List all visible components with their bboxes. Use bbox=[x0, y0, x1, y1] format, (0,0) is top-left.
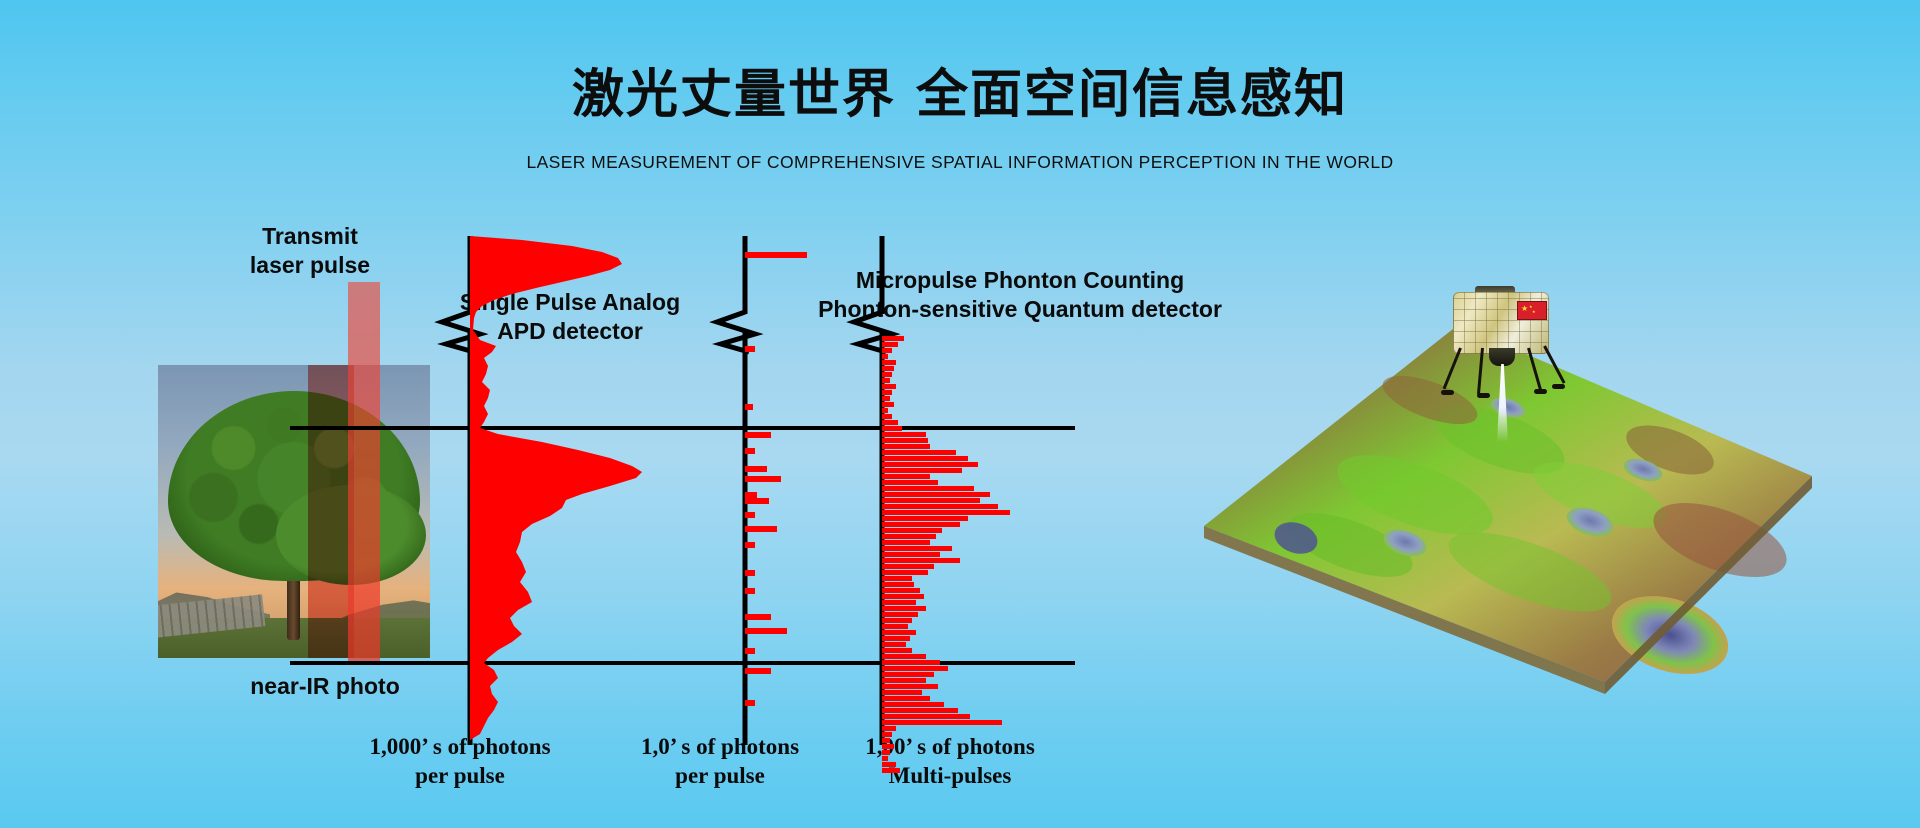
histogram-bar-64 bbox=[882, 720, 1002, 725]
histogram-bar-9 bbox=[882, 390, 892, 395]
histogram-bar-18 bbox=[882, 444, 930, 449]
histogram-bar-43 bbox=[882, 594, 924, 599]
histogram-bar-6 bbox=[882, 372, 892, 377]
histogram-bar-49 bbox=[882, 630, 916, 635]
lander-footpad-1 bbox=[1441, 390, 1454, 395]
photon-tick-8 bbox=[745, 498, 769, 504]
histogram-bar-45 bbox=[882, 606, 926, 611]
histogram-bar-62 bbox=[882, 708, 958, 713]
histogram-bar-12 bbox=[882, 408, 888, 413]
histogram-bar-16 bbox=[882, 432, 926, 437]
histogram-bar-4 bbox=[882, 360, 896, 365]
histogram-bar-28 bbox=[882, 504, 998, 509]
histogram-bar-3 bbox=[882, 354, 888, 359]
histogram-bar-33 bbox=[882, 534, 936, 539]
histogram-bar-7 bbox=[882, 378, 890, 383]
histogram-bar-50 bbox=[882, 636, 910, 641]
photon-tick-7 bbox=[745, 492, 757, 498]
photon-tick-12 bbox=[745, 570, 755, 576]
lander-footpad-4 bbox=[1552, 384, 1565, 389]
flag-star-main: ★ bbox=[1521, 305, 1528, 313]
lunar-lander-icon: ★ ★ ★ bbox=[1435, 286, 1565, 396]
waveform-panel-micropulse-photon-counting bbox=[854, 236, 1010, 773]
histogram-bar-21 bbox=[882, 462, 978, 467]
lander-leg-4 bbox=[1543, 345, 1565, 383]
histogram-bar-58 bbox=[882, 684, 938, 689]
histogram-bar-63 bbox=[882, 714, 970, 719]
histogram-bar-44 bbox=[882, 600, 916, 605]
photon-tick-13 bbox=[745, 588, 755, 594]
histogram-bar-32 bbox=[882, 528, 942, 533]
histogram-bar-23 bbox=[882, 474, 930, 479]
histogram-bar-47 bbox=[882, 618, 912, 623]
histogram-bar-22 bbox=[882, 468, 962, 473]
histogram-bar-1 bbox=[882, 342, 898, 347]
photon-tick-18 bbox=[745, 700, 755, 706]
histogram-bar-67 bbox=[882, 738, 890, 743]
histogram-bar-55 bbox=[882, 666, 948, 671]
histogram-bar-29 bbox=[882, 510, 1010, 515]
histogram-bar-40 bbox=[882, 576, 912, 581]
china-flag-icon: ★ ★ ★ bbox=[1517, 301, 1547, 320]
photon-tick-9 bbox=[745, 512, 755, 518]
lander-engine-nozzle bbox=[1489, 348, 1515, 366]
photon-tick-5 bbox=[745, 466, 767, 472]
histogram-bar-53 bbox=[882, 654, 926, 659]
histogram-bar-37 bbox=[882, 558, 960, 563]
photon-tick-10 bbox=[745, 526, 777, 532]
histogram-bar-38 bbox=[882, 564, 934, 569]
histogram-bar-5 bbox=[882, 366, 894, 371]
photon-tick-0 bbox=[745, 252, 807, 258]
histogram-bar-41 bbox=[882, 582, 914, 587]
waveform-panel-single-pulse-analog-apd bbox=[442, 236, 642, 745]
photon-tick-14 bbox=[745, 614, 771, 620]
lander-leg-3 bbox=[1527, 348, 1542, 391]
photon-tick-4 bbox=[745, 448, 755, 454]
histogram-bar-8 bbox=[882, 384, 896, 389]
histogram-bar-54 bbox=[882, 660, 940, 665]
histogram-bar-56 bbox=[882, 672, 934, 677]
histogram-bar-20 bbox=[882, 456, 968, 461]
waveform-panel-sparse-photon-counting bbox=[717, 236, 807, 745]
histogram-bar-35 bbox=[882, 546, 952, 551]
histogram-bar-10 bbox=[882, 396, 890, 401]
histogram-bar-46 bbox=[882, 612, 918, 617]
histogram-bar-42 bbox=[882, 588, 920, 593]
lander-leg-1 bbox=[1443, 347, 1462, 389]
histogram-bar-61 bbox=[882, 702, 944, 707]
lander-leg-2 bbox=[1477, 348, 1484, 394]
histogram-bar-36 bbox=[882, 552, 940, 557]
histogram-bar-65 bbox=[882, 726, 896, 731]
histogram-bar-24 bbox=[882, 480, 938, 485]
histogram-bar-0 bbox=[882, 336, 904, 341]
histogram-bar-19 bbox=[882, 450, 956, 455]
photon-tick-2 bbox=[745, 404, 753, 410]
photon-tick-17 bbox=[745, 668, 771, 674]
histogram-bar-14 bbox=[882, 420, 898, 425]
histogram-bar-71 bbox=[882, 762, 896, 767]
histogram-bar-34 bbox=[882, 540, 930, 545]
histogram-bar-60 bbox=[882, 696, 930, 701]
histogram-bar-39 bbox=[882, 570, 928, 575]
lander-body: ★ ★ ★ bbox=[1453, 292, 1549, 354]
histogram-bar-15 bbox=[882, 426, 902, 431]
histogram-bar-13 bbox=[882, 414, 892, 419]
histogram-bar-69 bbox=[882, 750, 890, 755]
photon-tick-6 bbox=[745, 476, 781, 482]
histogram-bar-70 bbox=[882, 756, 888, 761]
histogram-bar-27 bbox=[882, 498, 980, 503]
flag-star-3: ★ bbox=[1532, 308, 1536, 316]
histogram-bar-72 bbox=[882, 768, 900, 773]
histogram-bar-30 bbox=[882, 516, 968, 521]
histogram-bar-68 bbox=[882, 744, 894, 749]
histogram-bar-48 bbox=[882, 624, 908, 629]
histogram-bar-59 bbox=[882, 690, 922, 695]
lander-footpad-3 bbox=[1534, 389, 1547, 394]
histogram-bar-17 bbox=[882, 438, 928, 443]
lander-footpad-2 bbox=[1477, 393, 1490, 398]
histogram-bar-57 bbox=[882, 678, 926, 683]
photon-tick-11 bbox=[745, 542, 755, 548]
photon-tick-15 bbox=[745, 628, 787, 634]
histogram-bar-11 bbox=[882, 402, 894, 407]
histogram-bar-51 bbox=[882, 642, 906, 647]
histogram-bar-31 bbox=[882, 522, 960, 527]
histogram-bar-26 bbox=[882, 492, 990, 497]
poster-canvas: 激光丈量世界 全面空间信息感知 LASER MEASUREMENT OF COM… bbox=[0, 0, 1920, 828]
photon-tick-1 bbox=[745, 346, 755, 352]
photon-tick-16 bbox=[745, 648, 755, 654]
histogram-bar-25 bbox=[882, 486, 974, 491]
histogram-bar-52 bbox=[882, 648, 912, 653]
photon-tick-3 bbox=[745, 432, 771, 438]
histogram-bar-2 bbox=[882, 348, 892, 353]
histogram-bar-66 bbox=[882, 732, 892, 737]
